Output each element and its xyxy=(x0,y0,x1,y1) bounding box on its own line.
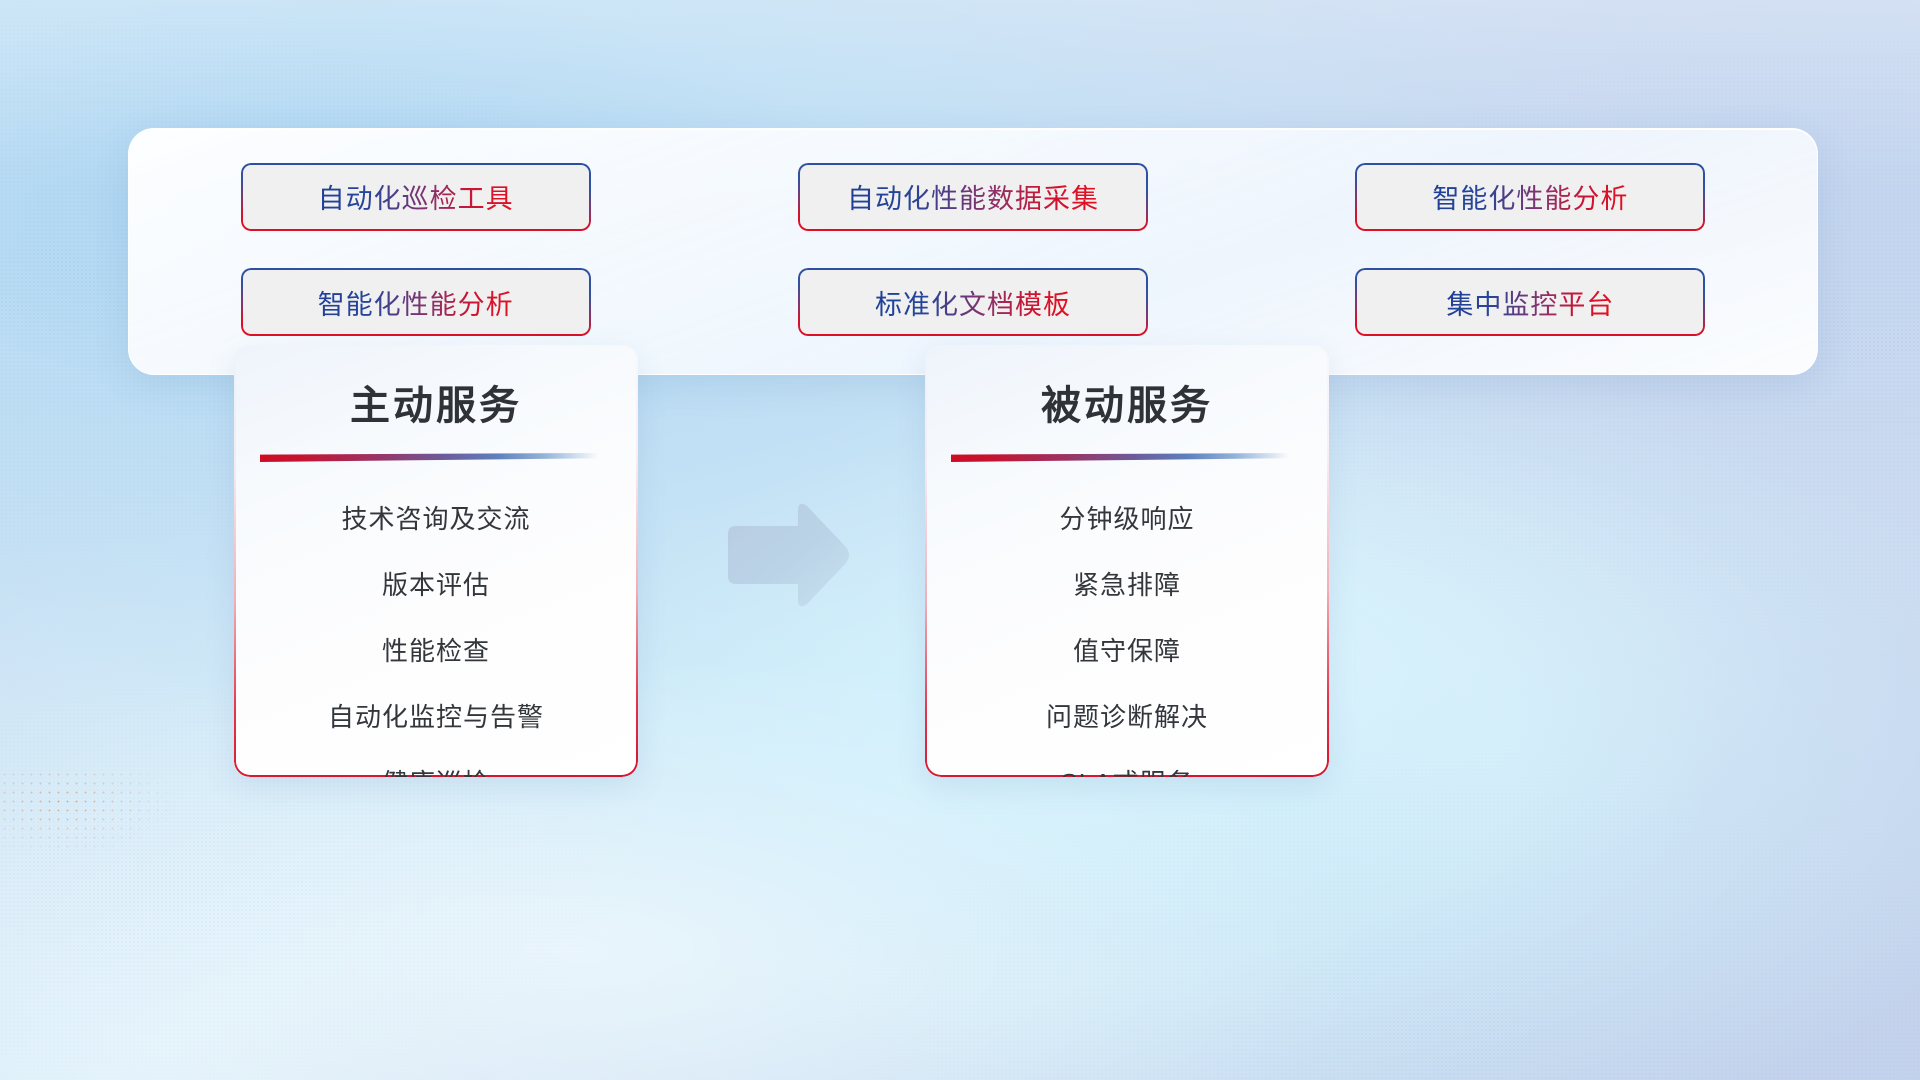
capability-pill-5[interactable]: 集中监控平台 xyxy=(1355,268,1705,336)
arrow-right-icon xyxy=(722,500,852,610)
background-warm-dot-accent xyxy=(0,770,280,900)
capability-pill-4[interactable]: 标准化文档模板 xyxy=(798,268,1148,336)
service-list-item: 问题诊断解决 xyxy=(1046,690,1208,744)
service-list-item: SLA式服务 xyxy=(1060,756,1193,777)
service-list-item: 自动化监控与告警 xyxy=(328,690,544,744)
capability-pill-3[interactable]: 智能化性能分析 xyxy=(241,268,591,336)
service-card-passive: 被动服务 分钟级响应 紧急排障 值守保障 问题诊断解决 SLA式服务 xyxy=(925,345,1329,777)
capability-pill-label: 自动化性能数据采集 xyxy=(847,177,1099,216)
capability-panel: 自动化巡检工具 自动化性能数据采集 智能化性能分析 智能化性能分析 标准化文档模… xyxy=(128,128,1818,375)
service-list-item: 分钟级响应 xyxy=(1059,492,1194,546)
service-card-title: 主动服务 xyxy=(234,345,638,431)
service-list-item: 性能检查 xyxy=(382,624,490,678)
service-card-divider xyxy=(951,453,1289,462)
service-card-list: 技术咨询及交流 版本评估 性能检查 自动化监控与告警 健康巡检 xyxy=(234,486,638,777)
capability-pill-label: 智能化性能分析 xyxy=(318,283,514,322)
service-list-item: 值守保障 xyxy=(1073,624,1181,678)
service-card-divider xyxy=(260,453,598,462)
capability-pill-0[interactable]: 自动化巡检工具 xyxy=(241,163,591,231)
capability-pill-label: 自动化巡检工具 xyxy=(318,177,514,216)
capability-pill-1[interactable]: 自动化性能数据采集 xyxy=(798,163,1148,231)
capability-pill-2[interactable]: 智能化性能分析 xyxy=(1355,163,1705,231)
service-list-item: 技术咨询及交流 xyxy=(341,492,530,546)
capability-pill-label: 集中监控平台 xyxy=(1446,283,1614,322)
service-list-item: 紧急排障 xyxy=(1073,558,1181,612)
service-list-item: 健康巡检 xyxy=(382,756,490,777)
capability-pill-label: 标准化文档模板 xyxy=(875,283,1071,322)
capability-pill-label: 智能化性能分析 xyxy=(1432,177,1628,216)
service-card-title: 被动服务 xyxy=(925,345,1329,431)
service-card-list: 分钟级响应 紧急排障 值守保障 问题诊断解决 SLA式服务 xyxy=(925,486,1329,777)
capability-pill-grid: 自动化巡检工具 自动化性能数据采集 智能化性能分析 智能化性能分析 标准化文档模… xyxy=(129,129,1817,374)
service-card-active: 主动服务 技术咨询及交流 版本评估 性能检查 自动化监控与告警 健康巡检 xyxy=(234,345,638,777)
service-list-item: 版本评估 xyxy=(382,558,490,612)
